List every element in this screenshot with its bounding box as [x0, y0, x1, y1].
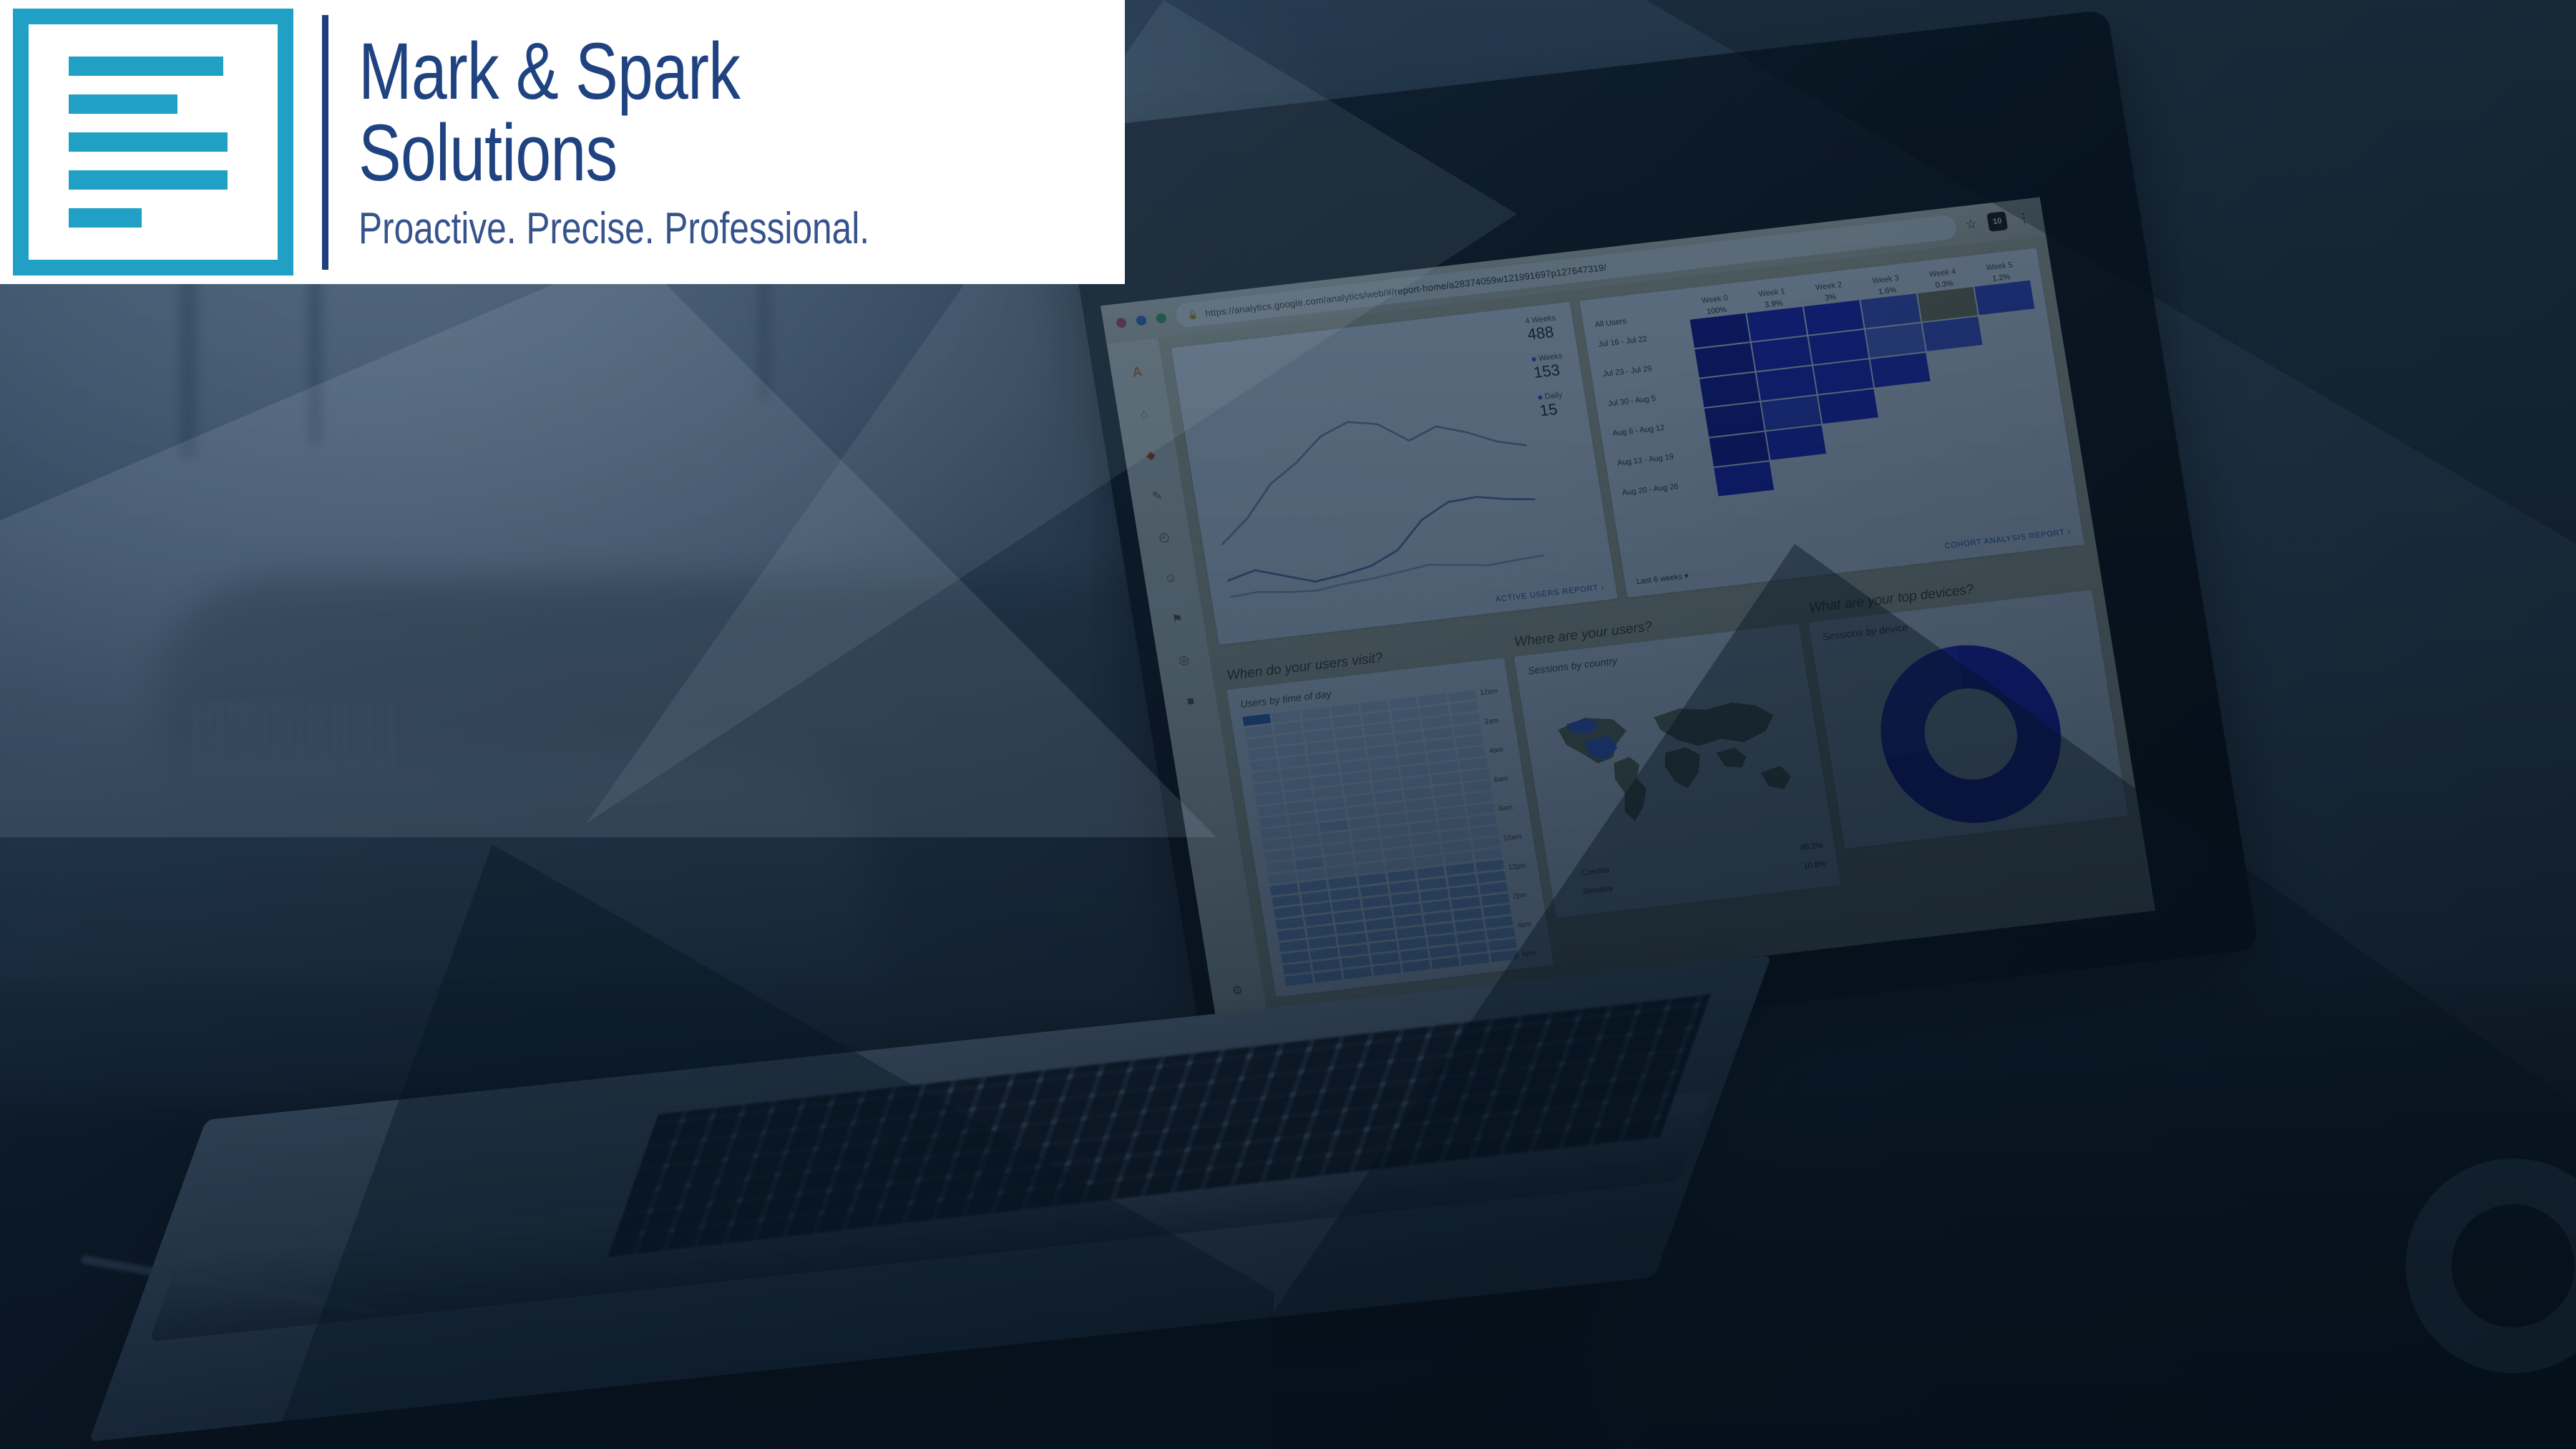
banner-canvas: 🔒 https://analytics.google.com/analytics… [0, 0, 2576, 1449]
brand-name-line1: Mark & Spark [358, 33, 869, 110]
brand-name-line2: Solutions [358, 114, 869, 192]
logo-divider [322, 15, 328, 270]
logo-bar [69, 94, 177, 114]
logo-bar [69, 170, 228, 190]
brand-tagline: Proactive. Precise. Professional. [358, 207, 869, 251]
brand-text-block: Mark & Spark Solutions Proactive. Precis… [358, 33, 997, 251]
logo-bar [69, 132, 228, 152]
document-lines-logo-icon [13, 9, 293, 275]
logo-bar [69, 208, 142, 228]
brand-logo-plate: Mark & Spark Solutions Proactive. Precis… [0, 0, 1125, 284]
logo-bar [69, 57, 223, 76]
